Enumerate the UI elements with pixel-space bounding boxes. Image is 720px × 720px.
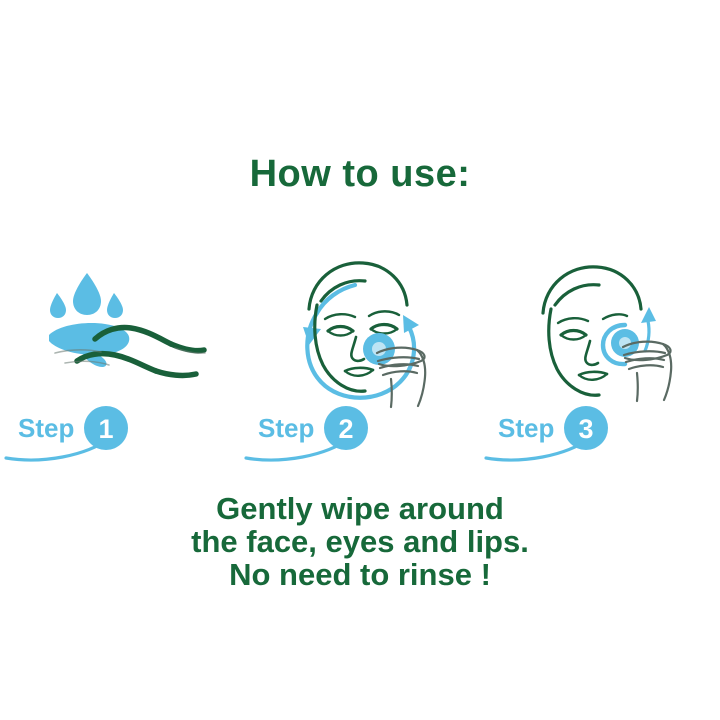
step-badge-3[interactable]: Step 3 <box>480 402 720 464</box>
water-droplets-icon <box>50 273 123 318</box>
step-block-2: Step 2 <box>240 252 480 464</box>
step-number-3: 3 <box>578 414 593 444</box>
hand-with-droplets-illustration <box>0 252 240 407</box>
face-wipe-cheek-illustration <box>240 252 480 407</box>
face-wipe-eye-illustration <box>480 252 720 407</box>
step-label-1: Step <box>18 413 74 443</box>
step-block-1: Step 1 <box>0 252 240 464</box>
step-badge-1[interactable]: Step 1 <box>0 402 240 464</box>
step-number-1: 1 <box>98 414 113 444</box>
page-title: How to use: <box>0 152 720 196</box>
steps-row: Step 1 <box>0 252 720 464</box>
circular-arrow-icon <box>307 285 414 398</box>
step-label-3: Step <box>498 413 554 443</box>
instruction-line-3: No need to rinse ! <box>0 558 720 591</box>
step-number-2: 2 <box>338 414 353 444</box>
instruction-line-1: Gently wipe around <box>0 492 720 525</box>
instruction-line-2: the face, eyes and lips. <box>0 525 720 558</box>
step-block-3: Step 3 <box>480 252 720 464</box>
up-arrow-icon <box>645 321 649 351</box>
arrow-head-up <box>641 307 656 323</box>
instruction-poster: How to use: <box>0 0 720 720</box>
step-badge-2[interactable]: Step 2 <box>240 402 480 464</box>
step-label-2: Step <box>258 413 314 443</box>
instruction-text: Gently wipe around the face, eyes and li… <box>0 492 720 591</box>
